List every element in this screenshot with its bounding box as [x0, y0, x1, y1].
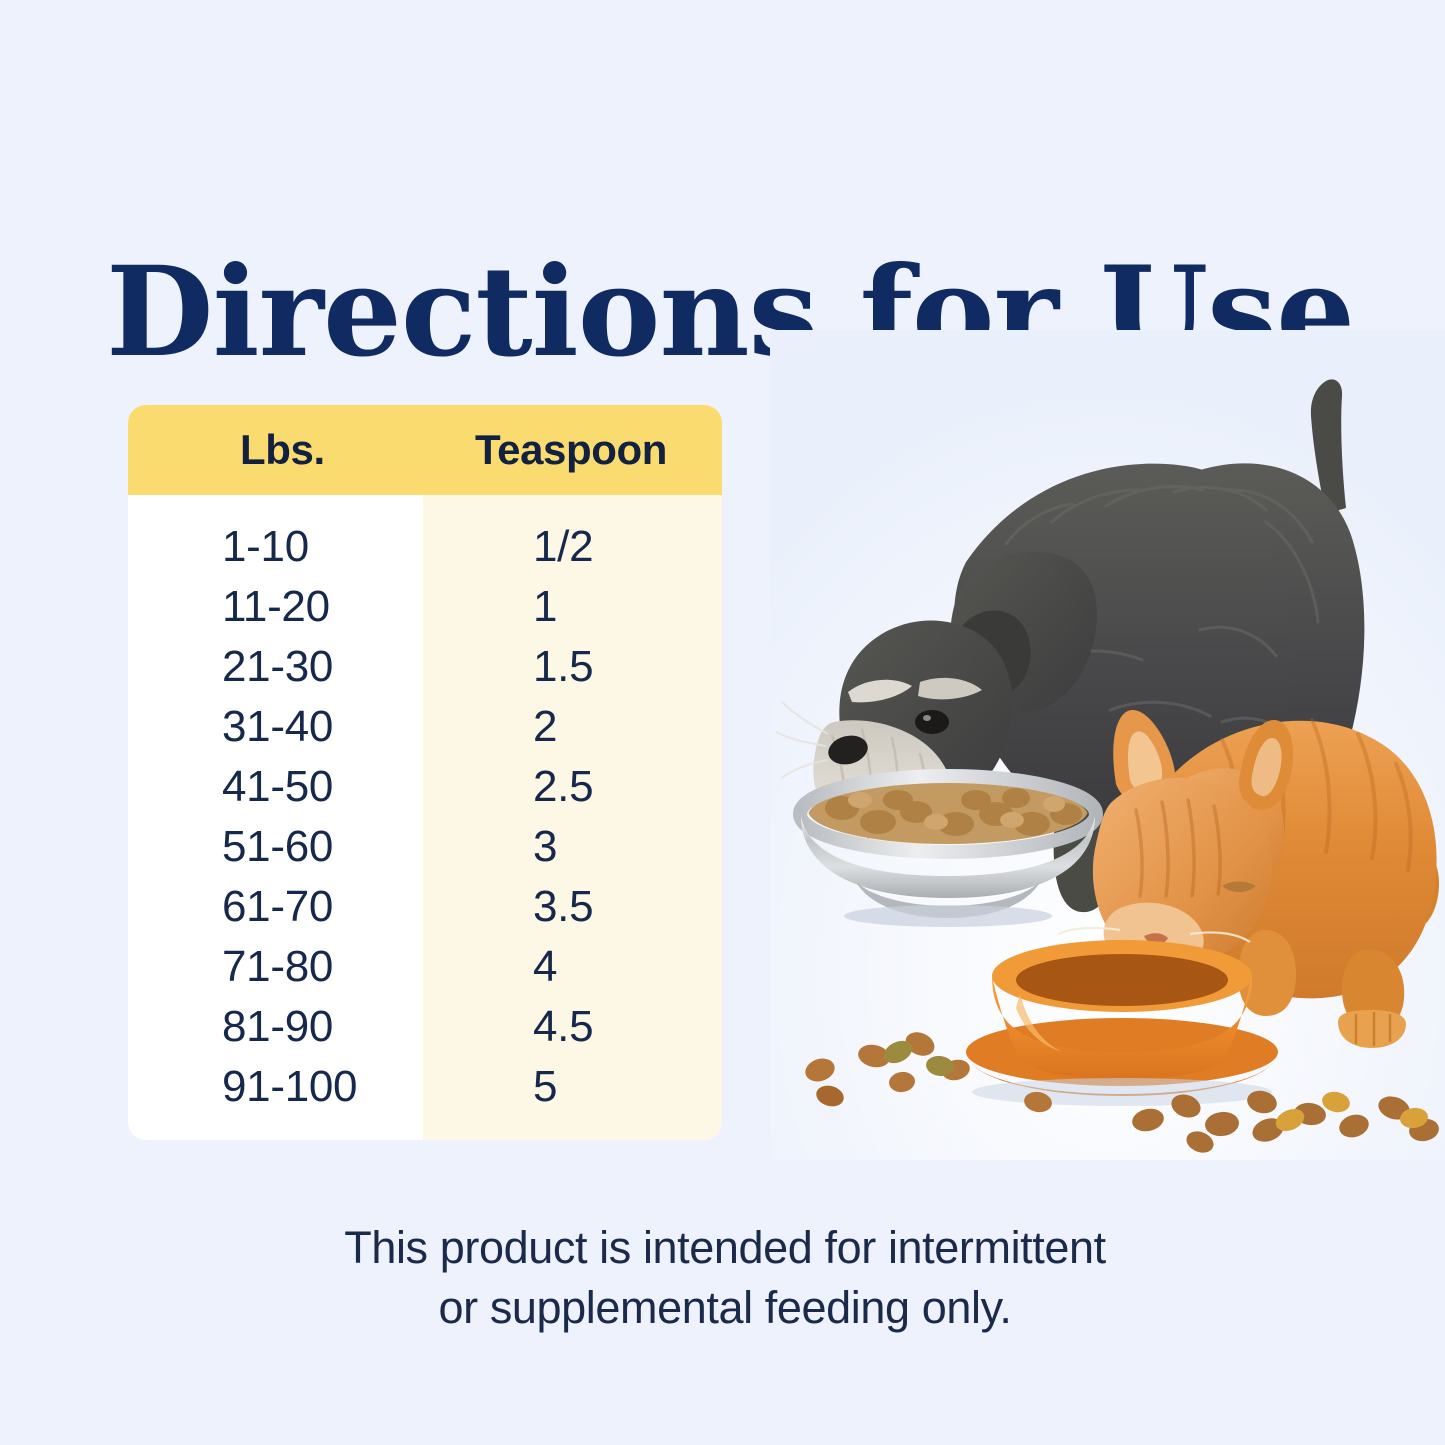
cell-teaspoon: 3.5: [423, 882, 722, 932]
cell-teaspoon: 2: [423, 702, 722, 752]
cell-lbs: 51-60: [128, 822, 423, 872]
disclaimer-line-1: This product is intended for intermitten…: [180, 1218, 1270, 1278]
cell-lbs: 71-80: [128, 942, 423, 992]
cell-lbs: 91-100: [128, 1062, 423, 1112]
cell-lbs: 31-40: [128, 702, 423, 752]
column-header-lbs: Lbs.: [128, 405, 423, 495]
table-row: 51-60 3: [128, 817, 722, 877]
table-row: 1-10 1/2: [128, 517, 722, 577]
cell-lbs: 21-30: [128, 642, 423, 692]
cat-bowl-shadow: [972, 1078, 1272, 1106]
table-body: 1-10 1/2 11-20 1 21-30 1.5 31-40 2 41-50…: [128, 495, 722, 1140]
cell-lbs: 41-50: [128, 762, 423, 812]
page-root: Directions for Use Lbs. Teaspoon 1-10 1/…: [0, 0, 1445, 1445]
cell-teaspoon: 3: [423, 822, 722, 872]
table-row: 21-30 1.5: [128, 637, 722, 697]
dog-bowl-shadow: [844, 905, 1052, 927]
feeding-disclaimer: This product is intended for intermitten…: [180, 1218, 1270, 1339]
cell-teaspoon: 1/2: [423, 522, 722, 572]
table-row: 31-40 2: [128, 697, 722, 757]
cell-lbs: 61-70: [128, 882, 423, 932]
table-row: 11-20 1: [128, 577, 722, 637]
cell-teaspoon: 4.5: [423, 1002, 722, 1052]
table-row: 81-90 4.5: [128, 997, 722, 1057]
pet-photo: [770, 330, 1445, 1160]
table-row: 41-50 2.5: [128, 757, 722, 817]
dog-eye: [915, 710, 949, 734]
cell-lbs: 81-90: [128, 1002, 423, 1052]
cell-teaspoon: 1.5: [423, 642, 722, 692]
dog-eye-highlight: [923, 715, 931, 721]
cell-teaspoon: 2.5: [423, 762, 722, 812]
cell-teaspoon: 5: [423, 1062, 722, 1112]
table-header-row: Lbs. Teaspoon: [128, 405, 722, 495]
column-header-teaspoon: Teaspoon: [423, 405, 722, 495]
disclaimer-line-2: or supplemental feeding only.: [180, 1278, 1270, 1338]
cell-teaspoon: 1: [423, 582, 722, 632]
table-row: 71-80 4: [128, 937, 722, 997]
cell-lbs: 1-10: [128, 522, 423, 572]
cat-bowl-interior: [1016, 954, 1228, 1006]
dosage-table: Lbs. Teaspoon 1-10 1/2 11-20 1 21-30 1.5…: [128, 405, 722, 1140]
table-row: 91-100 5: [128, 1057, 722, 1117]
cell-teaspoon: 4: [423, 942, 722, 992]
cell-lbs: 11-20: [128, 582, 423, 632]
table-row: 61-70 3.5: [128, 877, 722, 937]
